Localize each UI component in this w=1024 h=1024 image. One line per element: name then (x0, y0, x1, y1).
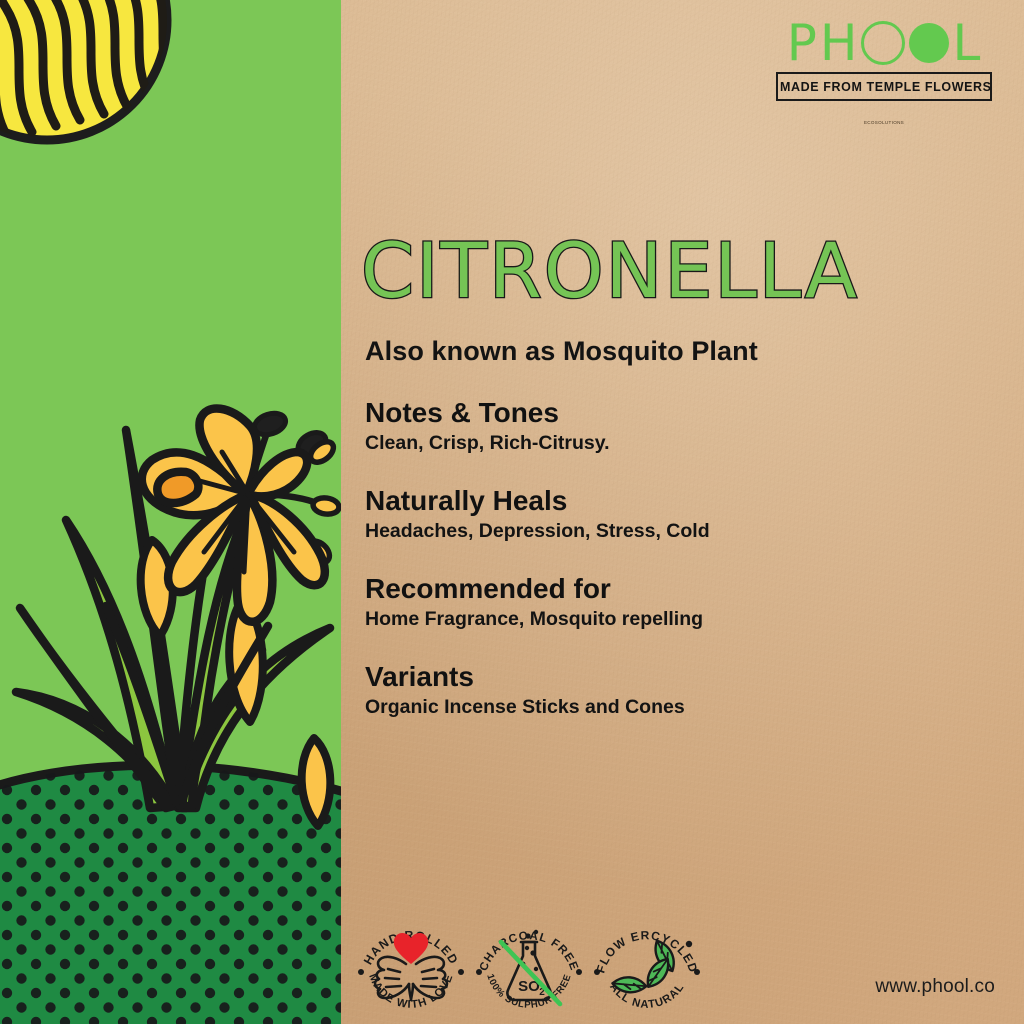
product-info: CITRONELLA Also known as Mosquito Plant … (361, 0, 961, 719)
section-heading: Notes & Tones (365, 397, 961, 429)
section-heading: Recommended for (365, 573, 961, 605)
certification-badges: HAND ROLLED MADE WITH LOVE (352, 912, 706, 1016)
section-naturally-heals: Naturally Heals Headaches, Depression, S… (365, 485, 961, 543)
section-heading: Naturally Heals (365, 485, 961, 517)
section-notes-and-tones: Notes & Tones Clean, Crisp, Rich-Citrusy… (365, 397, 961, 455)
badge-separator-dot (358, 969, 364, 975)
badge-top-text: FLOW ERCYCLED (593, 928, 700, 975)
badge-charcoal-free: CHARCOAL FREE 100% SULPHUR FREE (470, 912, 588, 1016)
section-body: Organic Incense Sticks and Cones (365, 695, 961, 719)
badge-flow-ercycled: FLOW ERCYCLED ALL NATURAL (588, 912, 706, 1016)
badge-separator-dot (458, 969, 464, 975)
badge-hand-rolled: HAND ROLLED MADE WITH LOVE (352, 912, 470, 1016)
section-body: Headaches, Depression, Stress, Cold (365, 519, 961, 543)
section-recommended-for: Recommended for Home Fragrance, Mosquito… (365, 573, 961, 631)
svg-text:FLOW ERCYCLED: FLOW ERCYCLED (593, 928, 700, 975)
section-variants: Variants Organic Incense Sticks and Cone… (365, 661, 961, 719)
illustration-panel (0, 0, 341, 1024)
badge-accent-dot (686, 941, 692, 947)
section-body: Clean, Crisp, Rich-Citrusy. (365, 431, 961, 455)
product-subtitle: Also known as Mosquito Plant (365, 336, 961, 367)
badge-separator-dot (476, 969, 482, 975)
section-heading: Variants (365, 661, 961, 693)
citronella-plant-illustration (0, 0, 341, 1024)
page-title: CITRONELLA (361, 0, 961, 310)
badge-separator-dot (594, 969, 600, 975)
section-body: Home Fragrance, Mosquito repelling (365, 607, 961, 631)
product-label-canvas: P H L ECOSOLUTIONS MADE FROM TEMPLE FLOW… (0, 0, 1024, 1024)
badge-separator-dot (694, 969, 700, 975)
website-url[interactable]: www.phool.co (875, 976, 995, 998)
badge-separator-dot (576, 969, 582, 975)
